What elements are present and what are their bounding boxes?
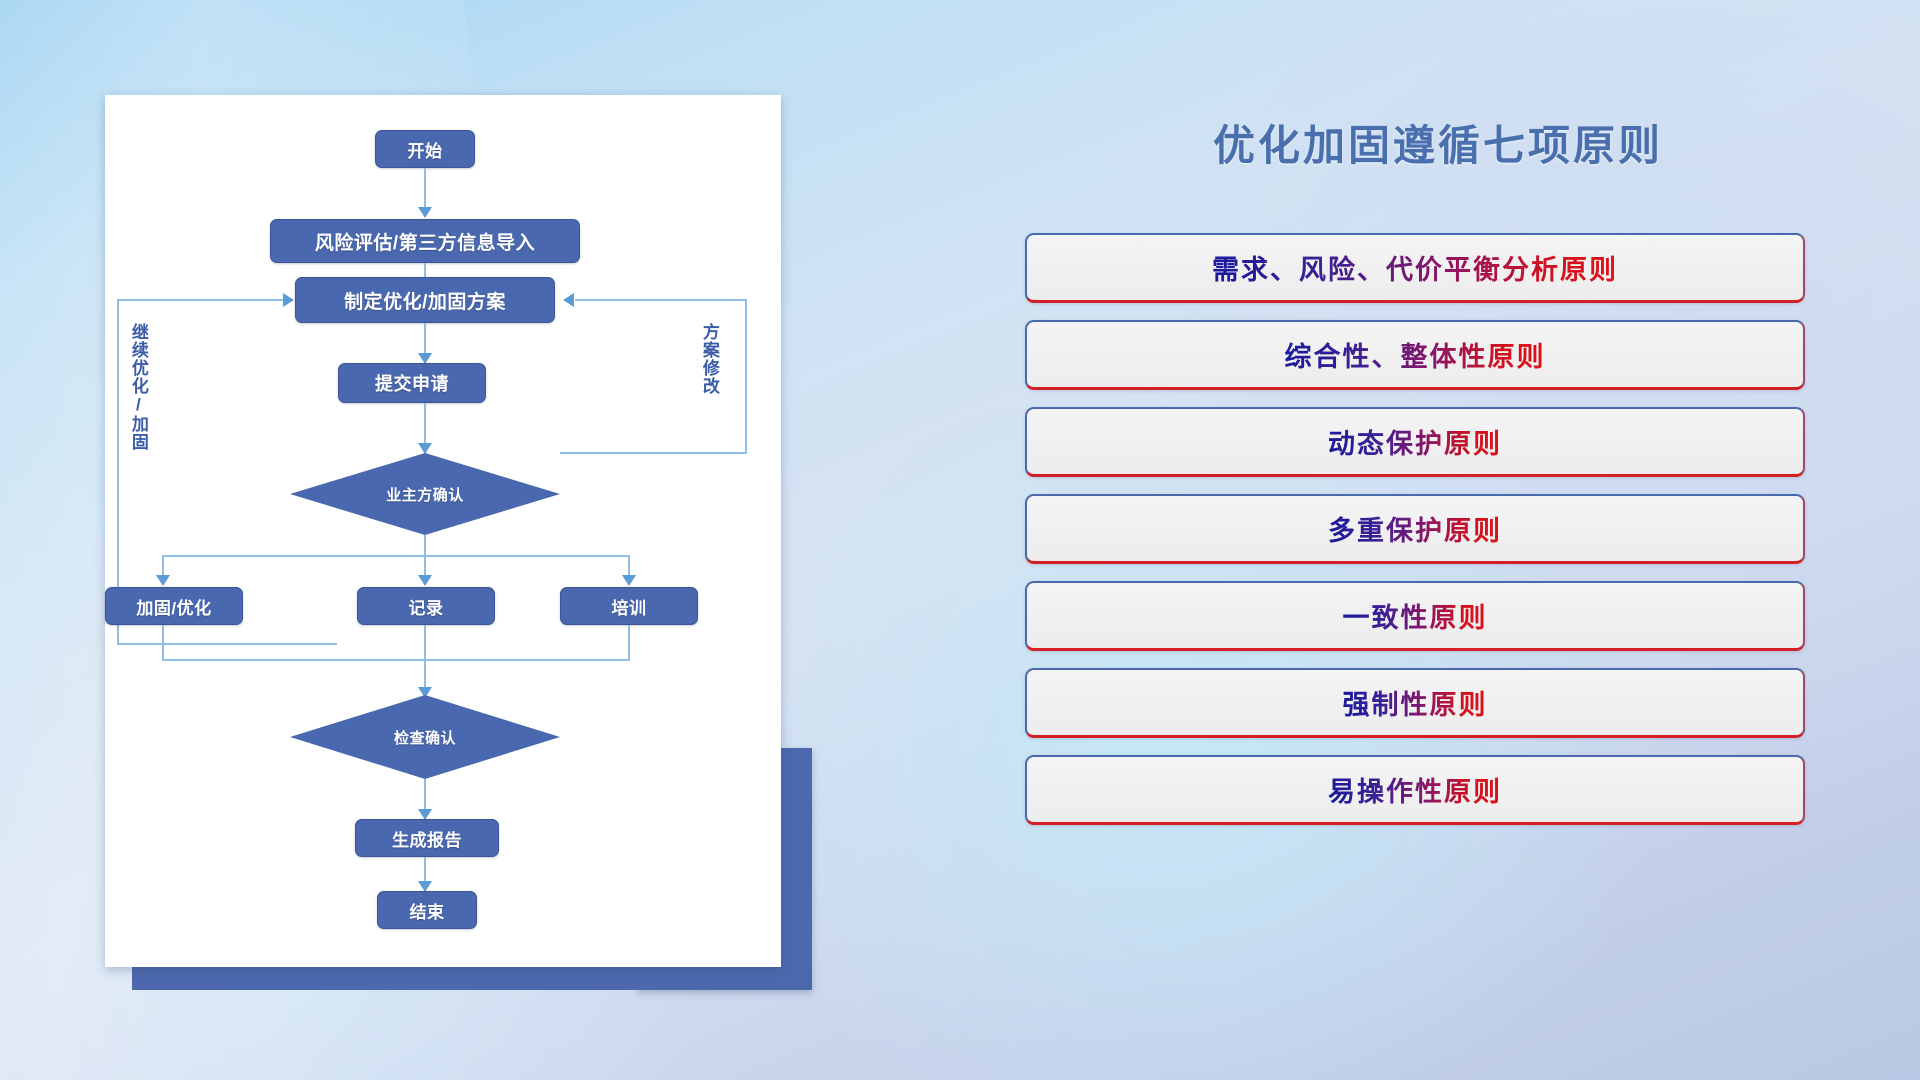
- flow-decision-inspection[interactable]: 检查确认: [290, 695, 560, 779]
- fanin-bus: [162, 659, 629, 661]
- principles-list: 需求、风险、代价平衡分析原则 综合性、整体性原则 动态保护原则 多重保护原则 一…: [1025, 233, 1805, 842]
- flow-node-reinforce-optimize[interactable]: 加固/优化: [105, 587, 243, 625]
- arrow-fanout-right-icon: [622, 575, 636, 586]
- flowchart-card: 开始 风险评估/第三方信息导入 制定优化/加固方案 提交申请 业主方确认: [105, 95, 781, 967]
- principle-card-label: 易操作性原则: [1328, 770, 1502, 809]
- flow-decision-owner-confirm-label: 业主方确认: [290, 453, 560, 535]
- arrow-loop-right-icon: [563, 293, 574, 307]
- flow-node-risk-assessment[interactable]: 风险评估/第三方信息导入: [270, 219, 580, 263]
- principle-card[interactable]: 动态保护原则: [1025, 407, 1805, 477]
- arrow-fanout-mid-icon: [418, 575, 432, 586]
- principle-card[interactable]: 综合性、整体性原则: [1025, 320, 1805, 390]
- principle-card[interactable]: 强制性原则: [1025, 668, 1805, 738]
- flow-node-record[interactable]: 记录: [357, 587, 495, 625]
- fanout-bus: [162, 555, 629, 557]
- flow-node-generate-report[interactable]: 生成报告: [355, 819, 499, 857]
- principle-card-label: 多重保护原则: [1328, 509, 1502, 548]
- loop-left-bottom: [117, 643, 337, 645]
- flow-node-training[interactable]: 培训: [560, 587, 698, 625]
- principle-card[interactable]: 一致性原则: [1025, 581, 1805, 651]
- loop-right-vertical: [745, 299, 747, 453]
- principle-card-label: 综合性、整体性原则: [1285, 335, 1546, 374]
- flow-node-end[interactable]: 结束: [377, 891, 477, 929]
- principle-card-label: 强制性原则: [1343, 683, 1488, 722]
- loop-right-bottom: [560, 452, 747, 454]
- principle-card[interactable]: 易操作性原则: [1025, 755, 1805, 825]
- arrow-fanout-left-icon: [156, 575, 170, 586]
- edge-label-plan-revision: 方案修改: [700, 323, 718, 395]
- flow-node-start[interactable]: 开始: [375, 130, 475, 168]
- arrow-start-risk-icon: [418, 207, 432, 218]
- edge-label-continue-optimize: 继续优化/加固: [129, 323, 147, 451]
- fanin-branch-left: [162, 625, 164, 661]
- principles-title: 优化加固遵循七项原则: [1028, 112, 1848, 173]
- flow-decision-inspection-label: 检查确认: [290, 695, 560, 779]
- principle-card-label: 一致性原则: [1343, 596, 1488, 635]
- loop-left-top: [117, 299, 287, 301]
- fanin-branch-right: [628, 625, 630, 661]
- flow-decision-owner-confirm[interactable]: 业主方确认: [290, 453, 560, 535]
- connector-confirm-fanout: [424, 535, 426, 557]
- principle-card-label: 动态保护原则: [1328, 422, 1502, 461]
- loop-right-top: [575, 299, 747, 301]
- principle-card[interactable]: 需求、风险、代价平衡分析原则: [1025, 233, 1805, 303]
- principle-card[interactable]: 多重保护原则: [1025, 494, 1805, 564]
- flowchart-canvas: 开始 风险评估/第三方信息导入 制定优化/加固方案 提交申请 业主方确认: [105, 95, 781, 967]
- principle-card-label: 需求、风险、代价平衡分析原则: [1212, 248, 1618, 287]
- flow-node-make-plan[interactable]: 制定优化/加固方案: [295, 277, 555, 323]
- slide-canvas: 开始 风险评估/第三方信息导入 制定优化/加固方案 提交申请 业主方确认: [0, 0, 1920, 1080]
- fanin-branch-mid: [424, 625, 426, 661]
- flow-node-submit-application[interactable]: 提交申请: [338, 363, 486, 403]
- arrow-loop-left-icon: [283, 293, 294, 307]
